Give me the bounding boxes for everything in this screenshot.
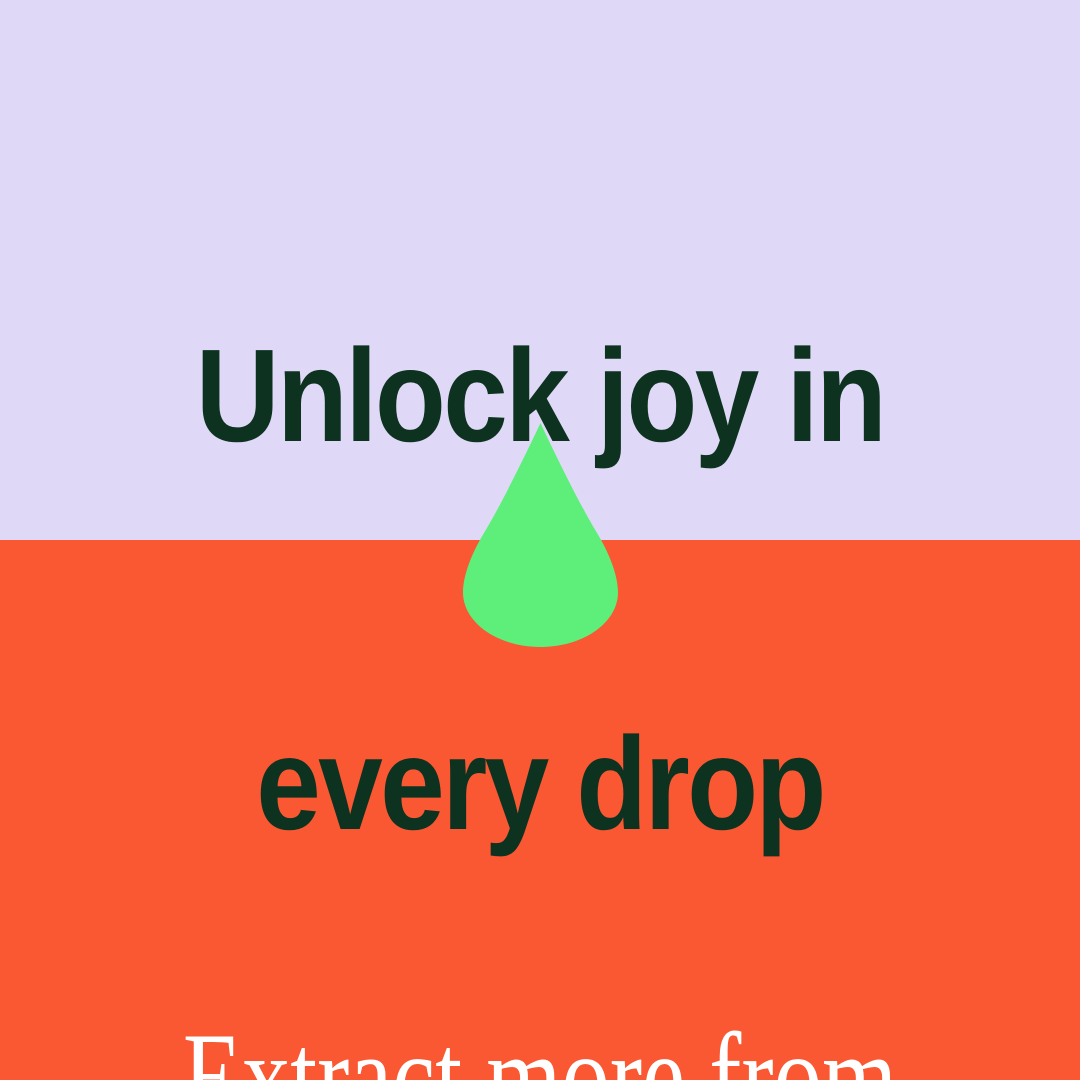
subhead-line-1: Extract more from (119, 1006, 961, 1080)
subhead: Extract more from life’s little moments (119, 723, 961, 1080)
water-droplet-icon (463, 423, 618, 647)
poster-canvas: Unlock joy in every drop Extract more fr… (0, 0, 1080, 1080)
